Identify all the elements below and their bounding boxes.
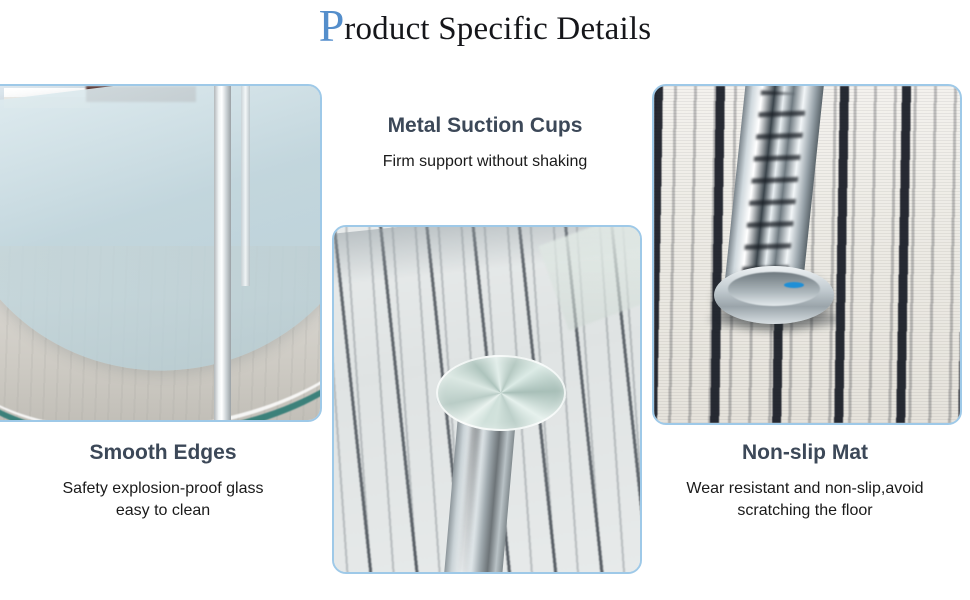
caption-subtitle-line2: easy to clean bbox=[8, 500, 318, 522]
caption-subtitle-smooth-edges: Safety explosion-proof glass easy to cle… bbox=[8, 478, 318, 522]
caption-subtitle-line1: Safety explosion-proof glass bbox=[8, 478, 318, 500]
caption-subtitle-metal-suction-cups: Firm support without shaking bbox=[333, 151, 637, 173]
caption-subtitle-line2: scratching the floor bbox=[652, 500, 958, 522]
caption-heading-nonslip-mat: Non-slip Mat bbox=[652, 440, 958, 466]
title-dropcap: P bbox=[319, 0, 345, 51]
foot-blue-reflection bbox=[784, 282, 804, 288]
chrome-table-leg bbox=[214, 86, 231, 420]
photo-metal-suction-cups bbox=[332, 225, 642, 574]
caption-subtitle-line1: Wear resistant and non-slip,avoid bbox=[652, 478, 958, 500]
caption-metal-suction-cups: Metal Suction Cups Firm support without … bbox=[333, 113, 637, 173]
photo-nonslip-mat-content bbox=[654, 86, 960, 423]
caption-subtitle-nonslip-mat: Wear resistant and non-slip,avoid scratc… bbox=[652, 478, 958, 522]
chrome-table-leg-secondary bbox=[241, 86, 250, 286]
title-text: roduct Specific Details bbox=[344, 11, 651, 47]
photo-smooth-edges bbox=[0, 84, 322, 422]
photo-nonslip-mat bbox=[652, 84, 962, 425]
caption-subtitle-line1: Firm support without shaking bbox=[333, 151, 637, 173]
caption-heading-smooth-edges: Smooth Edges bbox=[8, 440, 318, 466]
photo-metal-suction-cups-content bbox=[334, 227, 640, 572]
photo-smooth-edges-content bbox=[0, 86, 320, 420]
caption-heading-metal-suction-cups: Metal Suction Cups bbox=[333, 113, 637, 139]
caption-smooth-edges: Smooth Edges Safety explosion-proof glas… bbox=[8, 440, 318, 522]
caption-nonslip-mat: Non-slip Mat Wear resistant and non-slip… bbox=[652, 440, 958, 522]
non-slip-foot-inner bbox=[728, 272, 820, 306]
suction-cup-rim bbox=[436, 355, 566, 431]
page-title: Product Specific Details bbox=[0, 4, 970, 54]
